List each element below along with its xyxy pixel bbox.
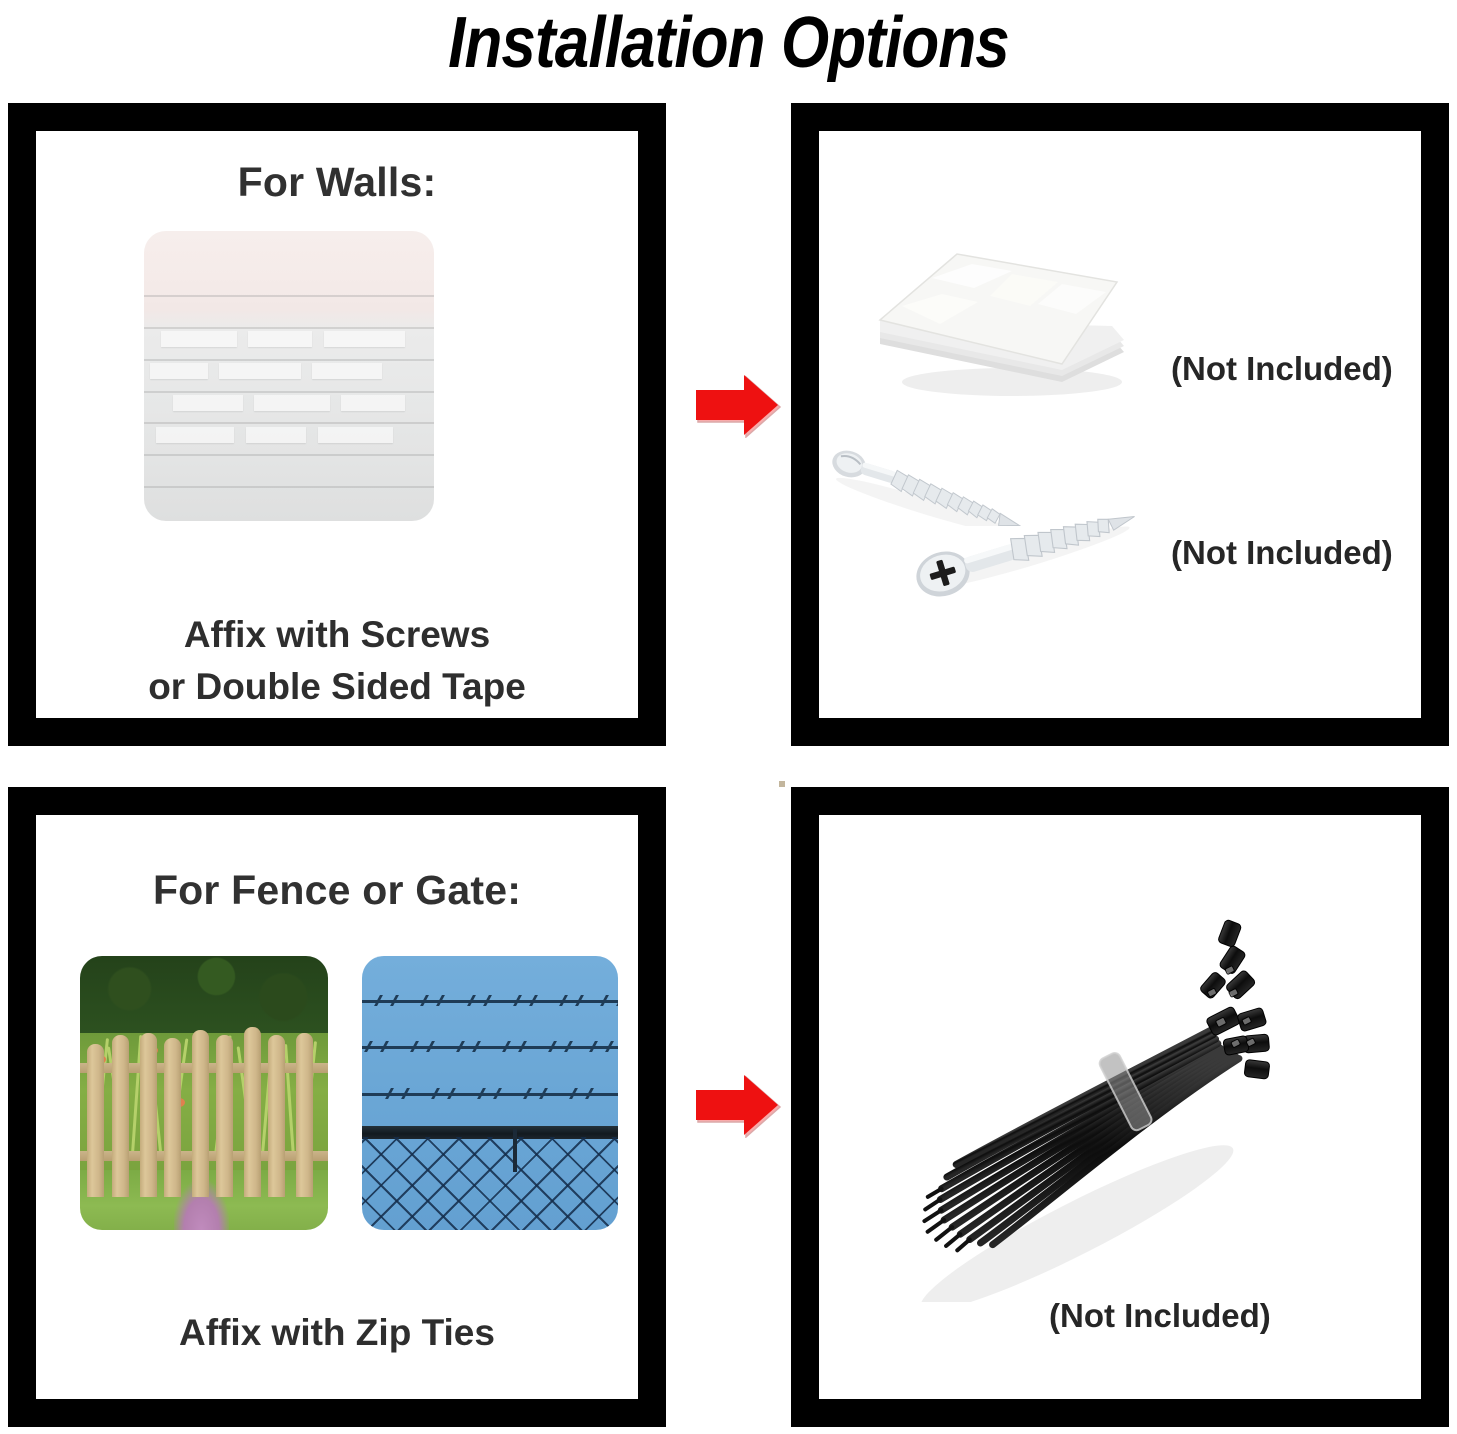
- wooden-picket-fence-image: [80, 956, 328, 1230]
- panel-for-fence-or-gate-caption: Affix with Zip Ties: [36, 1307, 638, 1359]
- panel-wall-hardware-content: (Not Included): [819, 131, 1421, 718]
- panel-wall-hardware: (Not Included): [791, 103, 1449, 746]
- chain-link-barbed-wire-fence-image: [362, 956, 618, 1230]
- panel-for-walls-caption-line-1: Affix with Screws: [36, 609, 638, 661]
- double-sided-tape-stack-image: [862, 232, 1142, 400]
- tape-not-included-label: (Not Included): [1171, 350, 1393, 388]
- black-zip-ties-bundle-image: [862, 912, 1332, 1302]
- panel-for-fence-or-gate-heading: For Fence or Gate:: [36, 867, 638, 914]
- panel-fence-hardware-content: (Not Included): [819, 815, 1421, 1399]
- red-right-arrow-icon: [692, 1072, 782, 1138]
- panel-for-walls-caption-line-2: or Double Sided Tape: [36, 661, 638, 713]
- panel-for-walls-heading: For Walls:: [36, 159, 638, 206]
- screws-not-included-label: (Not Included): [1171, 534, 1393, 572]
- panel-fence-hardware: (Not Included): [791, 787, 1449, 1427]
- wood-screw-image-lower: [905, 512, 1151, 602]
- zip-ties-not-included-label: (Not Included): [1049, 1297, 1271, 1335]
- infographic-root: Installation Options For Walls:: [0, 0, 1457, 1434]
- panel-for-fence-or-gate-content: For Fence or Gate:: [36, 815, 638, 1399]
- stray-artifact-pixel: [779, 781, 785, 787]
- panel-for-fence-or-gate: For Fence or Gate:: [8, 787, 666, 1427]
- white-brick-wall-image: [144, 231, 434, 521]
- red-right-arrow-icon: [692, 372, 782, 438]
- page-title: Installation Options: [102, 2, 1355, 84]
- panel-for-walls: For Walls:: [8, 103, 666, 746]
- panel-for-walls-content: For Walls:: [36, 131, 638, 718]
